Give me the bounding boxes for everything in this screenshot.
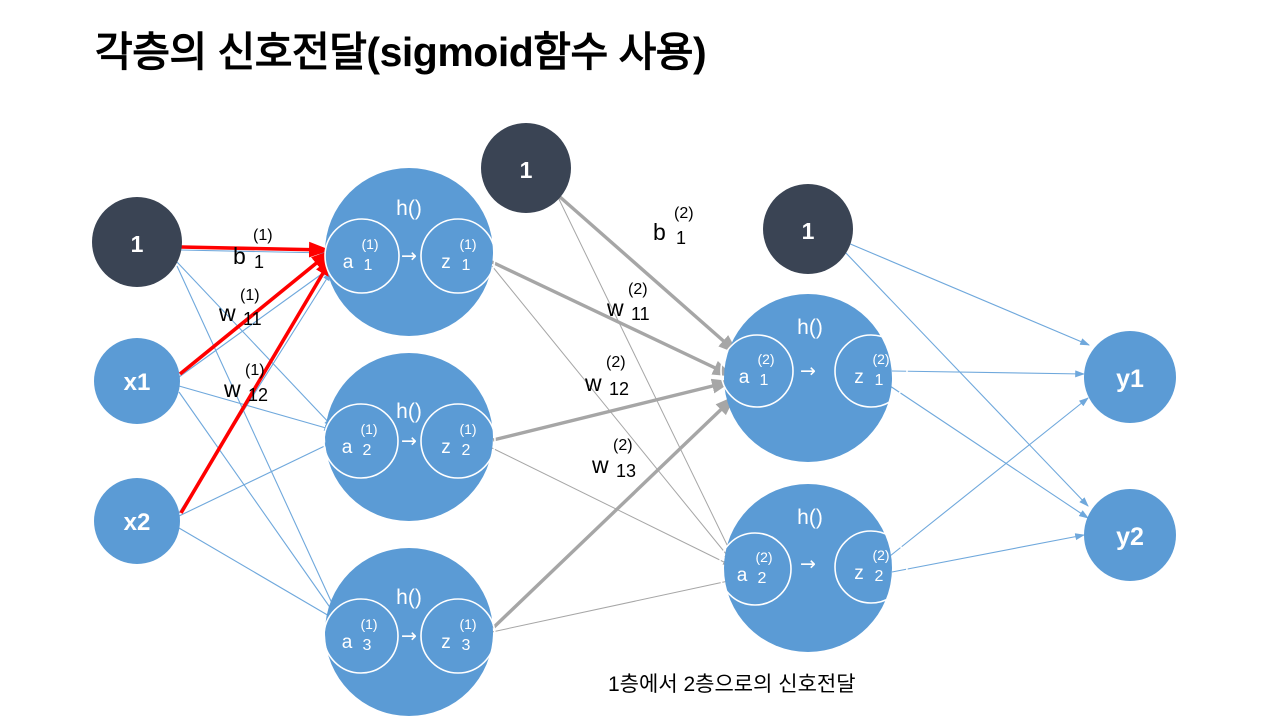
hidden1-node-1-a-sub: 1 [364,257,373,274]
hidden1-node-1-z-sup: (1) [459,236,476,252]
input-node-x2[interactable]: x2 [94,478,180,564]
hidden1-node-3-arrow-icon: → [401,625,417,647]
bias-node-layer0-label: 1 [131,231,144,257]
edge-label-b1-layer2-sup: (2) [674,205,694,222]
hidden1-node-2-z: z [441,437,451,458]
edge-bias1-a2l2 [556,193,731,553]
hidden1-node-3-a: a [342,632,353,653]
hidden1-node-1-z-sub: 1 [462,257,471,274]
slide-canvas: 각층의 신호전달(sigmoid함수 사용) [0,0,1280,720]
edge-z3-a2l2 [492,580,733,632]
output-node-y2-label: y2 [1116,523,1144,551]
hidden2-node-1-z-sub: 1 [875,372,884,389]
edge-label-w11-layer1: w (1) 11 [218,287,262,329]
edges-hidden1-to-hidden2-thin [492,193,733,632]
edges-input-to-hidden1 [177,250,336,620]
hidden1-node-2[interactable]: h() a (1) 2 → z (1) 2 [324,353,495,521]
hidden2-node-2-a-sub: 2 [758,570,767,587]
edges-highlighted-gray [492,197,736,628]
edge-z2l2-y1 [890,398,1088,556]
hidden2-node-1-a-sub: 1 [760,372,769,389]
hidden1-node-2-a: a [342,437,353,458]
edge-label-w11-layer2-sub: 11 [631,304,650,324]
hidden2-node-2-fn: h() [797,506,823,529]
edge-z2-a2l2 [492,448,730,565]
bias-node-layer1-label: 1 [520,157,533,183]
hidden-layer-1: h() a (1) 1 → z (1) 1 h() a (1) 2 → [324,168,495,716]
output-node-y1[interactable]: y1 [1084,331,1176,423]
hidden2-node-2-z: z [854,563,864,584]
bias-node-layer2[interactable]: 1 [763,184,853,274]
hidden2-node-2-z-sup: (2) [872,547,889,563]
edge-label-w11-layer2: w (2) 11 [606,281,650,324]
input-node-x1[interactable]: x1 [94,338,180,424]
edge-label-b1-layer1-main: b [233,243,246,269]
hidden2-node-2-z-sub: 2 [875,568,884,585]
hidden1-node-2-arrow-icon: → [401,430,417,452]
edge-label-w12-layer1-sub: 12 [248,385,268,405]
hidden2-node-2[interactable]: h() a (2) 2 → z (2) 2 [719,484,907,652]
edge-label-w11-layer1-sub: 11 [243,309,262,329]
hidden1-node-2-fn: h() [396,400,422,423]
hidden1-node-3-fn: h() [396,586,422,609]
hidden1-node-2-a-sub: 2 [363,442,372,459]
bias-node-layer0[interactable]: 1 [92,197,182,287]
edge-label-w12-layer2-sub: 12 [609,379,629,399]
hidden2-node-1-z-sup: (2) [872,351,889,367]
edge-red-bias0-a1 [181,247,327,250]
hidden2-node-2-arrow-icon: → [800,553,816,575]
output-node-y2[interactable]: y2 [1084,489,1176,581]
edge-z1l2-y1 [892,371,1084,374]
hidden1-node-3-z-sup: (1) [459,616,476,632]
input-node-x1-label: x1 [124,369,151,396]
hidden1-node-3-z-sub: 3 [462,637,471,654]
edge-label-w11-layer2-sup: (2) [628,281,648,298]
edge-label-w12-layer2-sup: (2) [606,354,626,371]
hidden1-node-3-a-sup: (1) [360,616,377,632]
hidden2-node-2-a: a [737,565,748,586]
edge-label-w13-layer2-main: w [591,452,609,478]
bias-node-layer2-label: 1 [802,218,815,244]
hidden2-node-1[interactable]: h() a (2) 1 → z (2) 1 [721,294,907,462]
hidden1-node-1[interactable]: h() a (1) 1 → z (1) 1 [325,168,495,336]
edge-label-w13-layer2-sup: (2) [613,437,633,454]
output-layer: y1 y2 [1084,331,1176,581]
edge-label-w13-layer2: w (2) 13 [591,437,636,481]
hidden1-node-1-a-sup: (1) [361,236,378,252]
edge-label-w13-layer2-sub: 13 [616,461,636,481]
edge-label-w12-layer2-main: w [584,370,602,396]
input-layer: x1 x2 [94,338,180,564]
hidden1-node-1-z: z [441,252,451,273]
hidden-layer-2: h() a (2) 1 → z (2) 1 h() a (2) 2 → z [719,294,907,652]
edge-label-b1-layer2: b (2) 1 [653,205,694,248]
edge-label-b1-layer1-sup: (1) [253,227,273,244]
hidden2-node-1-fn: h() [797,316,823,339]
hidden1-node-1-arrow-icon: → [401,245,417,267]
hidden2-node-1-arrow-icon: → [800,360,816,382]
output-node-y1-label: y1 [1116,365,1144,393]
edge-label-w12-layer2: w (2) 12 [584,354,629,399]
edge-x2-a3 [179,528,336,620]
edge-label-w12-layer1-sup: (1) [245,362,265,379]
bias-node-layer1[interactable]: 1 [481,123,571,213]
diagram-caption: 1층에서 2층으로의 신호전달 [608,668,856,698]
edge-label-w11-layer1-sup: (1) [240,287,260,304]
hidden2-node-2-a-sup: (2) [755,549,772,565]
hidden1-node-2-a-sup: (1) [360,421,377,437]
hidden2-node-1-a-sup: (2) [757,351,774,367]
edge-x1-a3 [179,392,336,616]
hidden1-node-3[interactable]: h() a (1) 3 → z (1) 3 [324,548,495,716]
edge-z1l2-y2 [890,386,1088,518]
edge-label-w12-layer1-main: w [223,376,241,402]
edge-label-w11-layer2-main: w [606,295,624,321]
hidden1-node-1-a: a [343,252,354,273]
hidden2-node-1-a: a [739,367,750,388]
hidden1-node-2-z-sub: 2 [462,442,471,459]
edge-label-b1-layer2-sub: 1 [676,228,686,248]
hidden1-node-3-a-sub: 3 [363,637,372,654]
edge-label-b1-layer1-sub: 1 [254,252,264,272]
input-node-x2-label: x2 [124,509,151,536]
neural-network-diagram: h() a (1) 1 → z (1) 1 h() a (1) 2 → [0,0,1280,720]
edge-z2l2-y2 [892,535,1084,572]
hidden1-node-2-z-sup: (1) [459,421,476,437]
hidden1-node-1-fn: h() [396,197,422,220]
edge-label-w11-layer1-main: w [218,300,236,326]
edge-gray-bias1-a1l2 [560,197,736,352]
hidden1-node-3-z: z [441,632,451,653]
hidden2-node-1-z: z [854,367,864,388]
edge-bias2-y1 [848,243,1089,345]
edge-label-b1-layer2-main: b [653,219,666,245]
